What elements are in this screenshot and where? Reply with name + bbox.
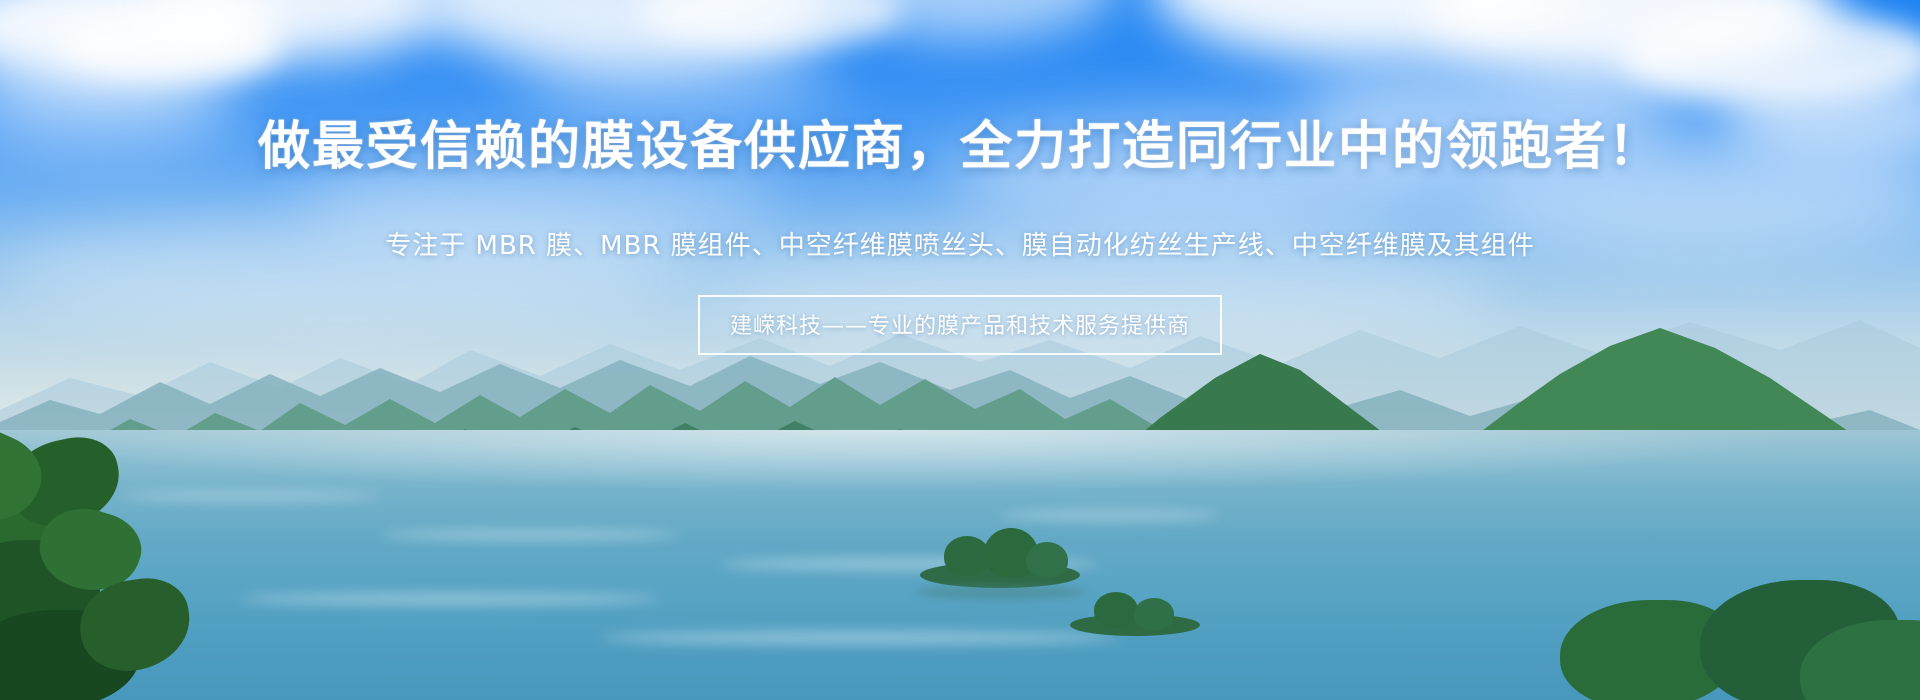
banner-tagline-box: 建嵘科技——专业的膜产品和技术服务提供商 [698, 295, 1222, 355]
banner-subheadline: 专注于 MBR 膜、MBR 膜组件、中空纤维膜喷丝头、膜自动化纺丝生产线、中空纤… [0, 225, 1920, 262]
banner-tagline-wrapper: 建嵘科技——专业的膜产品和技术服务提供商 [0, 295, 1920, 355]
hero-banner: 做最受信赖的膜设备供应商，全力打造同行业中的领跑者！ 专注于 MBR 膜、MBR… [0, 0, 1920, 700]
text-overlay: 做最受信赖的膜设备供应商，全力打造同行业中的领跑者！ 专注于 MBR 膜、MBR… [0, 0, 1920, 700]
banner-headline: 做最受信赖的膜设备供应商，全力打造同行业中的领跑者！ [0, 104, 1920, 179]
